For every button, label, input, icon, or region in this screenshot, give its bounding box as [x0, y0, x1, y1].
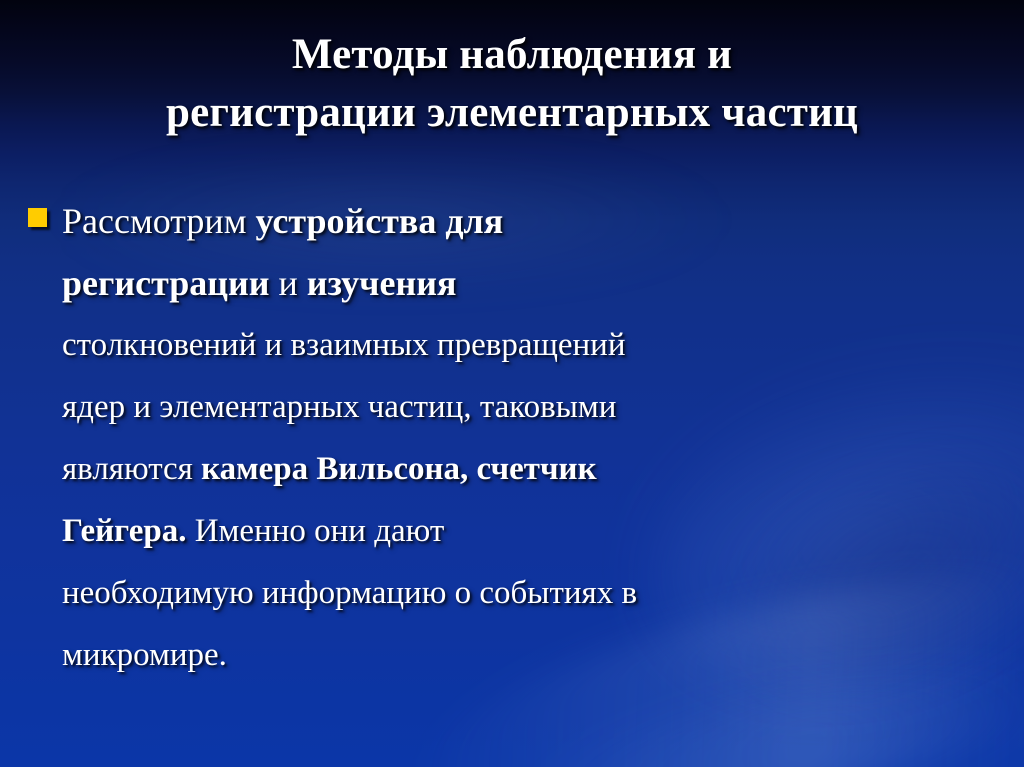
- body-line-6: Гейгера. Именно они дают: [62, 500, 988, 562]
- body-line-3-run-1: столкновений и взаимных превращений: [62, 327, 626, 363]
- body-line-1: Рассмотрим устройства для: [62, 190, 988, 252]
- body-line-2-run-3: изучения: [307, 263, 457, 303]
- bullet-item-text: Рассмотрим устройства для регистрации и …: [62, 190, 988, 686]
- body-line-5: являются камера Вильсона, счетчик: [62, 438, 988, 500]
- body-line-4: ядер и элементарных частиц, таковыми: [62, 376, 988, 438]
- body-line-4-run-1: ядер и элементарных частиц, таковыми: [62, 389, 616, 425]
- body-line-6-run-1: Гейгера.: [62, 513, 186, 549]
- slide-title-line-1: Методы наблюдения и: [50, 26, 974, 84]
- slide-title: Методы наблюдения и регистрации элемента…: [50, 26, 974, 142]
- square-bullet-icon: [28, 208, 47, 227]
- body-line-5-run-2: камера Вильсона, счетчик: [201, 451, 596, 487]
- bullet-list-item: Рассмотрим устройства для регистрации и …: [28, 190, 988, 686]
- body-line-6-run-2: Именно они дают: [186, 513, 444, 549]
- body-line-3: столкновений и взаимных превращений: [62, 314, 988, 376]
- body-line-8-run-1: микромире.: [62, 637, 227, 673]
- slide-title-line-2: регистрации элементарных частиц: [50, 84, 974, 142]
- body-line-2-run-2: и: [269, 263, 306, 303]
- slide-canvas: Методы наблюдения и регистрации элемента…: [0, 0, 1024, 767]
- body-line-8: микромире.: [62, 624, 988, 686]
- body-line-5-run-1: являются: [62, 451, 201, 487]
- slide-body: Рассмотрим устройства для регистрации и …: [28, 190, 988, 686]
- body-line-7-run-1: необходимую информацию о событиях в: [62, 575, 637, 611]
- body-line-1-run-2: устройства для: [255, 201, 503, 241]
- body-line-7: необходимую информацию о событиях в: [62, 562, 988, 624]
- body-line-2-run-1: регистрации: [62, 263, 269, 303]
- body-line-1-run-1: Рассмотрим: [62, 201, 255, 241]
- body-line-2: регистрации и изучения: [62, 252, 988, 314]
